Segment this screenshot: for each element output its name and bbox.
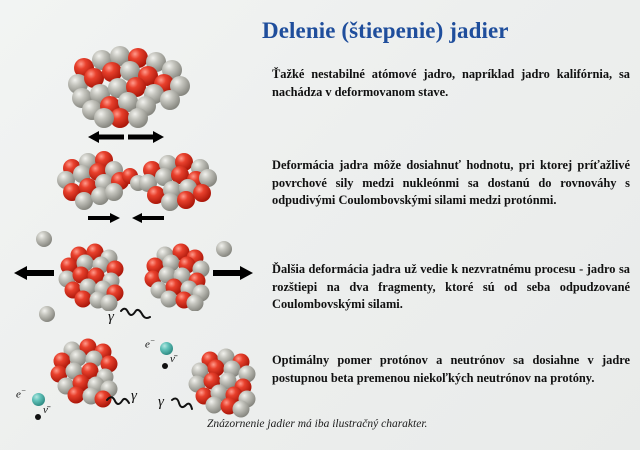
electron-charge-sign-right: − (150, 336, 155, 345)
antineutrino-label-left: ν̄ (43, 404, 48, 416)
free-neutron-lower-left (38, 305, 56, 328)
svg-text:γ: γ (158, 394, 165, 410)
nucleus-elongated-stage2 (52, 150, 222, 212)
antineutrino-dot-right (161, 357, 169, 375)
electron-label-right: e− (145, 336, 155, 351)
antineutrino-label-right: ν̄ (170, 353, 175, 365)
free-neutron-upper-left (35, 230, 53, 253)
svg-text:γ: γ (108, 309, 115, 325)
antineutrino-dot-left (34, 408, 42, 426)
electron-charge-sign: − (21, 386, 26, 395)
gamma-photon-stage3: γ (108, 305, 160, 333)
svg-text:γ: γ (131, 388, 138, 404)
nucleus-fragment-left-stage3 (57, 243, 127, 311)
nucleus-fragment-right-stage3 (143, 243, 213, 311)
gamma-photon-stage4-left: γ (103, 386, 155, 416)
nucleus-deformed-stage1 (58, 38, 198, 130)
gamma-photon-stage4-right: γ (158, 392, 210, 424)
paragraph-irreversible-split: Ďalšia deformácia jadra už vedie k nezvr… (272, 261, 630, 314)
arrow-inward-right (132, 212, 164, 224)
paragraph-beta-decay: Optimálny pomer protónov a neutrónov sa … (272, 352, 630, 387)
page-title: Delenie (štiepenie) jadier (262, 18, 632, 44)
electron-label-left: e− (16, 386, 26, 401)
paragraph-deformed-nucleus: Ťažké nestabilné atómové jadro, napríkla… (272, 66, 630, 101)
paragraph-deformation-equilibrium: Deformácia jadra môže dosiahnuť hodnotu,… (272, 157, 630, 210)
free-neutron-upper-right (215, 240, 233, 263)
arrow-outward-left (88, 130, 124, 144)
arrow-fragment-escape-right (213, 265, 253, 281)
slide-canvas: Delenie (štiepenie) jadier Ťažké nestabi… (0, 0, 640, 450)
illustration-disclaimer: Znázornenie jadier má iba ilustračný cha… (207, 418, 427, 430)
arrow-fragment-escape-left (14, 265, 54, 281)
arrow-outward-right (128, 130, 164, 144)
arrow-inward-left (88, 212, 120, 224)
